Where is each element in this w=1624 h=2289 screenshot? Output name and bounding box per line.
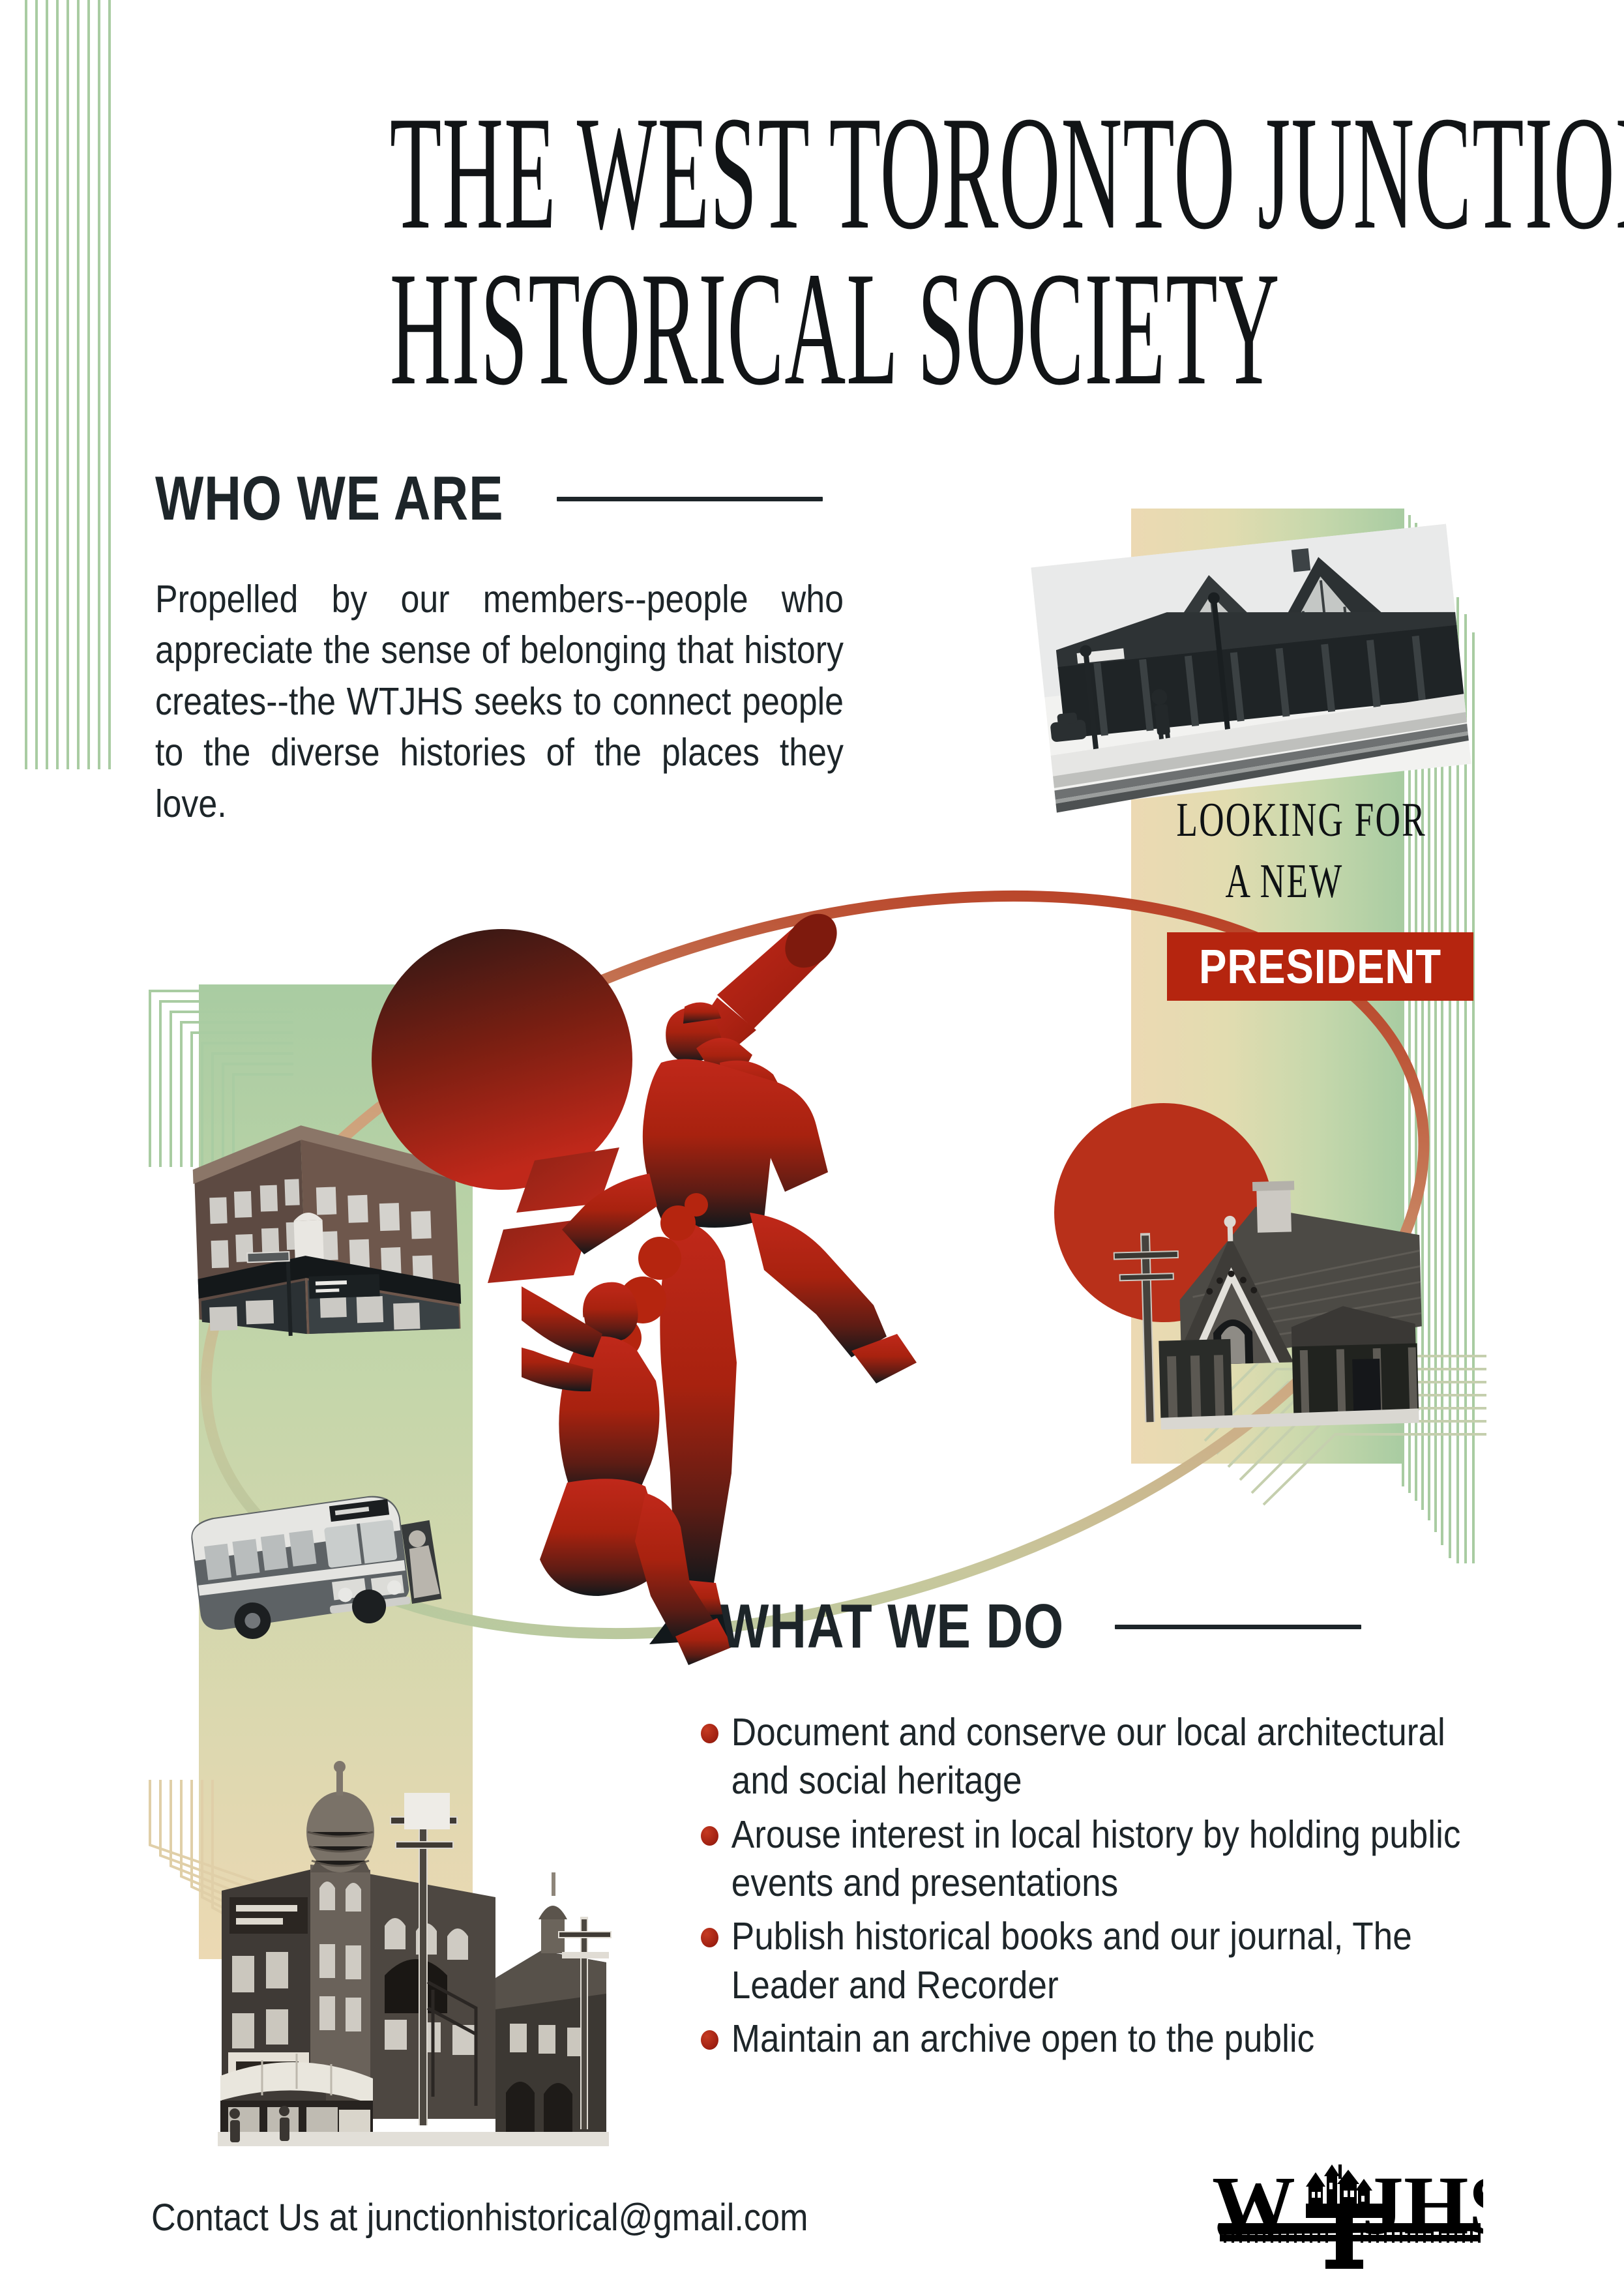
what-we-do-heading-label: WHAT WE DO (720, 1591, 1064, 1662)
who-we-are-rule (557, 497, 823, 501)
photo-gothic-cottage (1095, 1167, 1460, 1447)
what-we-do-heading: WHAT WE DO (720, 1591, 1361, 1662)
contact-line[interactable]: Contact Us at junctionhistorical@gmail.c… (151, 2196, 808, 2239)
left-panel-stripe-decor (0, 0, 170, 769)
callout-line-2: A NEW (1176, 854, 1392, 909)
logo-railway-icon (1217, 2223, 1481, 2243)
what-we-do-list: Document and conserve our local architec… (701, 1708, 1487, 2068)
title-line-2: HISTORICAL SOCIETY (390, 254, 1234, 406)
who-we-are-body: Propelled by our members--people who app… (155, 574, 844, 829)
bullet-dot-icon (701, 1826, 718, 1846)
poster-canvas: THE WEST TORONTO JUNCTION HISTORICAL SOC… (0, 0, 1624, 2289)
president-banner: PRESIDENT (1167, 932, 1473, 1001)
bullet-dot-icon (701, 1928, 718, 1947)
who-we-are-heading-label: WHO WE ARE (155, 463, 503, 535)
bullet-dot-icon (701, 1724, 718, 1743)
president-banner-label: PRESIDENT (1188, 932, 1452, 1001)
poster-title: THE WEST TORONTO JUNCTION HISTORICAL SOC… (0, 98, 1624, 405)
list-item: Document and conserve our local architec… (701, 1708, 1487, 1805)
list-item-label: Document and conserve our local architec… (731, 1708, 1487, 1805)
bullet-dot-icon (701, 2030, 718, 2050)
wtjhs-logo: W JHS (1209, 2163, 1483, 2281)
list-item-label: Maintain an archive open to the public (731, 2015, 1314, 2063)
photo-train-station (1024, 518, 1493, 825)
list-item-label: Publish historical books and our journal… (731, 1912, 1487, 2009)
photo-vintage-bus (173, 1473, 453, 1649)
title-line-1: THE WEST TORONTO JUNCTION (390, 98, 1234, 250)
who-we-are-heading: WHO WE ARE (155, 463, 823, 535)
list-item: Maintain an archive open to the public (701, 2015, 1487, 2063)
callout-line-1: LOOKING FOR (1176, 793, 1392, 848)
list-item: Publish historical books and our journal… (701, 1912, 1487, 2009)
list-item-label: Arouse interest in local history by hold… (731, 1810, 1487, 1908)
illustration-red-figures (522, 867, 1121, 1832)
what-we-do-rule (1115, 1625, 1361, 1629)
list-item: Arouse interest in local history by hold… (701, 1810, 1487, 1908)
